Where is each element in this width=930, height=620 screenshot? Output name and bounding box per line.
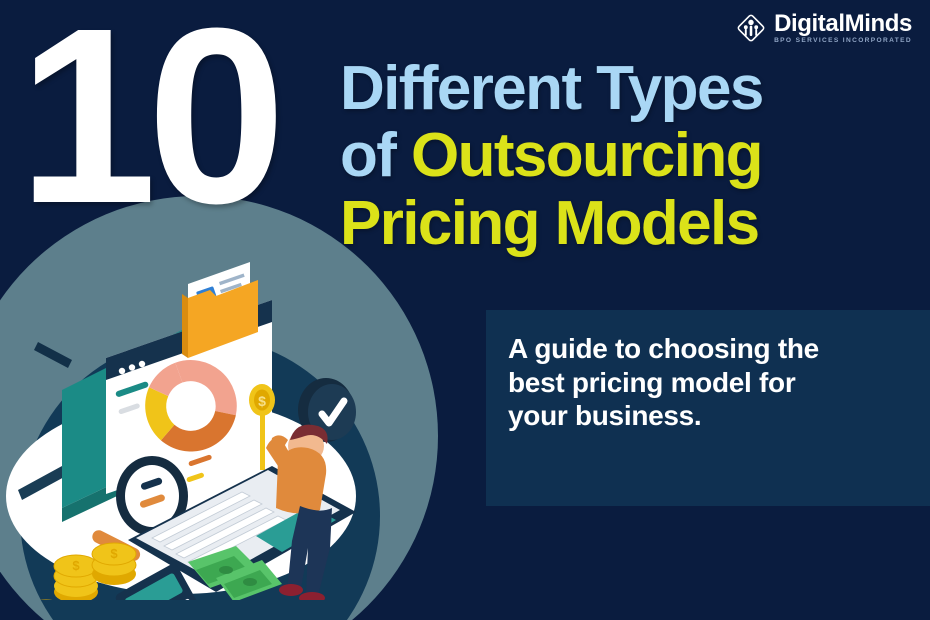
logo-wordmark: DigitalMinds <box>774 12 912 36</box>
digitalminds-diamond-icon <box>735 12 767 44</box>
svg-text:$: $ <box>258 393 266 409</box>
headline-line-3: Pricing Models <box>340 193 926 254</box>
coin-stack: $ $ $ <box>26 543 136 600</box>
headline-line-1: Different Types <box>340 58 926 119</box>
headline-block: Different Types of Outsourcing Pricing M… <box>340 58 926 254</box>
subtitle-panel: A guide to choosing the best pricing mod… <box>486 310 930 506</box>
headline-line-2: of Outsourcing <box>340 125 926 186</box>
headline-line-2-prefix: of <box>340 121 411 190</box>
svg-text:$: $ <box>110 546 118 561</box>
svg-text:$: $ <box>72 558 80 573</box>
subtitle-text: A guide to choosing the best pricing mod… <box>508 332 858 433</box>
brand-logo[interactable]: DigitalMinds BPO SERVICES INCORPORATED <box>735 12 912 45</box>
isometric-finance-illustration: $ <box>10 240 370 600</box>
logo-tagline: BPO SERVICES INCORPORATED <box>774 38 912 45</box>
headline-line-2-highlight: Outsourcing <box>411 121 762 190</box>
promotional-banner: $ <box>0 0 930 620</box>
headline-number: 10 <box>18 8 276 223</box>
